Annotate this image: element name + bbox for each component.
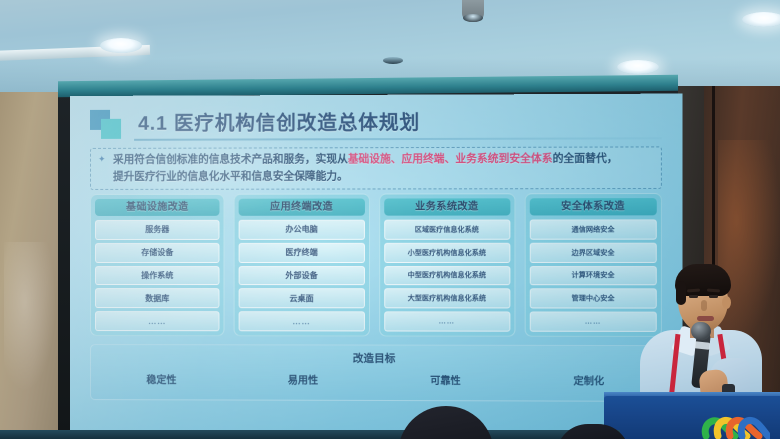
- column-header: 基础设施改造: [95, 199, 220, 216]
- transformation-columns: 基础设施改造 服务器 存储设备 操作系统 数据库 …… 应用终端改造 办公电脑 …: [90, 193, 662, 337]
- smoke-detector-icon: [383, 57, 403, 64]
- column-header: 业务系统改造: [384, 198, 510, 215]
- goal-item: 易用性: [232, 371, 374, 386]
- projector-icon: [462, 0, 484, 22]
- column-items: 办公电脑 医疗终端 外部设备 云桌面 ……: [239, 220, 365, 332]
- title-underline: [134, 137, 662, 141]
- list-item: 大型医疗机构信息化系统: [384, 289, 510, 309]
- diamond-bullet-icon: ✦: [98, 155, 107, 164]
- speaker-mouth: [697, 316, 714, 321]
- list-item: 边界区域安全: [530, 242, 657, 262]
- list-item: 医疗终端: [239, 243, 365, 263]
- column-infrastructure: 基础设施改造 服务器 存储设备 操作系统 数据库 ……: [90, 194, 225, 337]
- ceiling-downlight-icon: [617, 60, 659, 74]
- column-header: 应用终端改造: [239, 199, 365, 216]
- list-item: 云桌面: [239, 288, 365, 308]
- ceiling-downlight-icon: [742, 12, 780, 27]
- list-item: 通信网络安全: [530, 219, 657, 239]
- goal-item: 可靠性: [374, 372, 517, 388]
- list-item: 小型医疗机构信息化系统: [384, 243, 510, 263]
- list-item: 外部设备: [239, 266, 365, 286]
- projected-slide: 4.1 医疗机构信创改造总体规划 ✦ 采用符合信创标准的信息技术产品和服务，实现…: [70, 94, 682, 437]
- list-item-ellipsis: ……: [95, 311, 220, 331]
- goal-bar-items: 稳定性 易用性 可靠性 定制化: [91, 371, 661, 388]
- list-item-ellipsis: ……: [384, 312, 510, 332]
- speaker-nose: [701, 300, 707, 311]
- list-item: 操作系统: [95, 266, 220, 286]
- podium-logo-icon: [700, 414, 770, 439]
- list-item: 中型医疗机构信息化系统: [384, 266, 510, 286]
- summary-callout: ✦ 采用符合信创标准的信息技术产品和服务，实现从基础设施、应用终端、业务系统到安…: [90, 146, 662, 190]
- column-header: 安全体系改造: [530, 198, 657, 215]
- speaker-eye-left: [689, 295, 698, 298]
- goal-item: 稳定性: [91, 371, 232, 386]
- summary-line1-post: 的全面替代，: [553, 153, 618, 165]
- list-item: 区域医疗信息化系统: [384, 220, 510, 240]
- list-item-ellipsis: ……: [239, 311, 365, 331]
- list-item: 数据库: [95, 288, 220, 308]
- summary-line1-pre: 采用符合信创标准的信息技术产品和服务，实现从: [113, 153, 348, 166]
- decorative-square-front-icon: [101, 119, 121, 139]
- list-item: 服务器: [95, 220, 220, 240]
- column-items: 服务器 存储设备 操作系统 数据库 ……: [95, 220, 220, 331]
- speaker-eye-right: [709, 295, 718, 298]
- photo-scene: 4.1 医疗机构信创改造总体规划 ✦ 采用符合信创标准的信息技术产品和服务，实现…: [0, 0, 780, 439]
- summary-text: 采用符合信创标准的信息技术产品和服务，实现从基础设施、应用终端、业务系统到安全体…: [113, 150, 653, 184]
- speaker-ear: [722, 296, 731, 309]
- column-business-systems: 业务系统改造 区域医疗信息化系统 小型医疗机构信息化系统 中型医疗机构信息化系统…: [379, 193, 516, 336]
- goal-bar-title: 改造目标: [91, 350, 661, 366]
- summary-line2: 提升医疗行业的信息化水平和信息安全保障能力。: [113, 170, 348, 183]
- goal-bar: 改造目标 稳定性 易用性 可靠性 定制化: [90, 344, 662, 402]
- list-item: 办公电脑: [239, 220, 365, 240]
- ceiling-downlight-icon: [100, 38, 142, 53]
- summary-highlight: 基础设施、应用终端、业务系统到安全体系: [348, 153, 553, 166]
- column-terminals: 应用终端改造 办公电脑 医疗终端 外部设备 云桌面 ……: [234, 194, 370, 337]
- slide-title-row: 4.1 医疗机构信创改造总体规划: [90, 104, 662, 146]
- page-title: 4.1 医疗机构信创改造总体规划: [138, 106, 420, 136]
- podium-logo-svg: [700, 414, 770, 439]
- list-item: 存储设备: [95, 243, 220, 263]
- foreground-floor: [0, 430, 620, 439]
- column-items: 区域医疗信息化系统 小型医疗机构信息化系统 中型医疗机构信息化系统 大型医疗机构…: [384, 220, 510, 332]
- left-wall-glow: [4, 242, 56, 392]
- speaker-hair: [675, 264, 731, 296]
